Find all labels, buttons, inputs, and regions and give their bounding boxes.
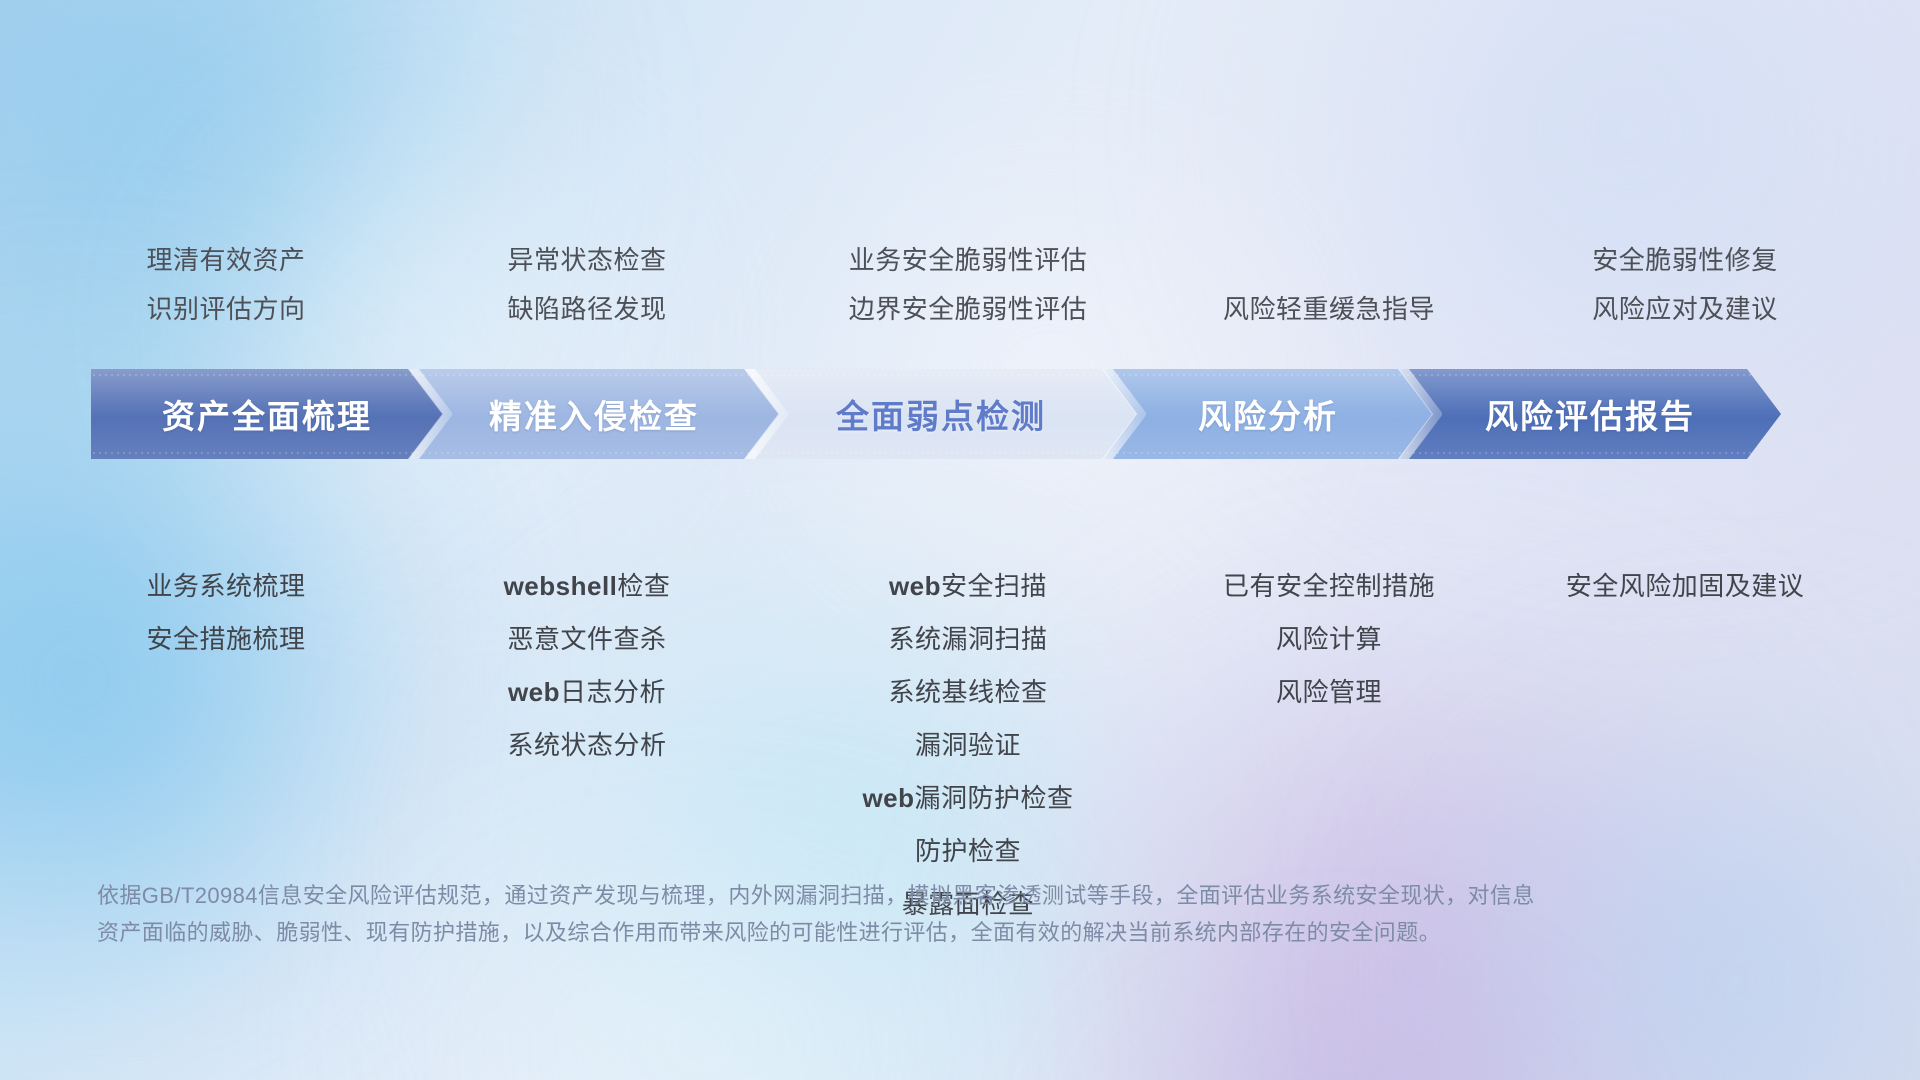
top-outcomes-row: 理清有效资产识别评估方向异常状态检查缺陷路径发现业务安全脆弱性评估边界安全脆弱性… xyxy=(0,236,1920,334)
chevron-dot-texture xyxy=(1399,373,1781,377)
process-diagram: 理清有效资产识别评估方向异常状态检查缺陷路径发现业务安全脆弱性评估边界安全脆弱性… xyxy=(0,0,1920,1080)
chevron-dot-texture xyxy=(91,373,443,377)
activity-item: web漏洞防护检查 xyxy=(862,772,1073,825)
stage-title-asset-inventory: 资产全面梳理 xyxy=(162,390,372,438)
activity-item: 已有安全控制措施 xyxy=(1223,560,1435,613)
footer-description: 依据GB/T20984信息安全风险评估规范，通过资产发现与梳理，内外网漏洞扫描，… xyxy=(97,877,1797,951)
top-outcomes-intrusion-check: 异常状态检查缺陷路径发现 xyxy=(402,236,772,334)
top-outcomes-risk-analysis: 风险轻重缓急指导 xyxy=(1164,236,1494,334)
bottom-activities-risk-analysis: 已有安全控制措施风险计算风险管理 xyxy=(1164,560,1494,931)
stage-chevron-banner: 资产全面梳理精准入侵检查全面弱点检测风险分析风险评估报告 xyxy=(91,369,1847,459)
stage-chevron-weakness-detection[interactable]: 全面弱点检测 xyxy=(745,369,1137,459)
stage-chevron-intrusion-check[interactable]: 精准入侵检查 xyxy=(409,369,779,459)
footer-line-1: 依据GB/T20984信息安全风险评估规范，通过资产发现与梳理，内外网漏洞扫描，… xyxy=(97,877,1797,914)
outcome-item: 安全脆弱性修复 xyxy=(1592,236,1778,285)
activity-item-prefix: webshell xyxy=(504,571,618,601)
activity-item: 恶意文件查杀 xyxy=(507,613,666,666)
bottom-activities-asset-inventory: 业务系统梳理安全措施梳理 xyxy=(50,560,402,931)
bottom-activities-risk-report: 安全风险加固及建议 xyxy=(1494,560,1876,931)
stage-title-weakness-detection: 全面弱点检测 xyxy=(836,390,1046,438)
activity-item: 安全措施梳理 xyxy=(146,613,305,666)
outcome-item: 业务安全脆弱性评估 xyxy=(849,236,1088,285)
stage-chevron-risk-analysis[interactable]: 风险分析 xyxy=(1103,369,1433,459)
chevron-dot-texture xyxy=(409,373,779,377)
outcome-item: 风险应对及建议 xyxy=(1592,285,1778,334)
activity-item: 系统漏洞扫描 xyxy=(888,613,1047,666)
outcome-item: 理清有效资产 xyxy=(146,236,305,285)
stage-title-risk-report: 风险评估报告 xyxy=(1485,390,1695,438)
activity-item: 安全风险加固及建议 xyxy=(1566,560,1805,613)
chevron-dot-texture xyxy=(1399,451,1781,455)
stage-title-risk-analysis: 风险分析 xyxy=(1198,390,1338,438)
top-outcomes-asset-inventory: 理清有效资产识别评估方向 xyxy=(50,236,402,334)
outcome-item: 风险轻重缓急指导 xyxy=(1223,285,1435,334)
activity-item: 漏洞验证 xyxy=(915,719,1021,772)
stage-chevron-asset-inventory[interactable]: 资产全面梳理 xyxy=(91,369,443,459)
activity-item: 系统状态分析 xyxy=(507,719,666,772)
activity-item-prefix: web xyxy=(862,783,914,813)
top-outcomes-weakness-detection: 业务安全脆弱性评估边界安全脆弱性评估 xyxy=(772,236,1164,334)
stage-title-intrusion-check: 精准入侵检查 xyxy=(489,390,699,438)
bottom-activities-weakness-detection: web安全扫描系统漏洞扫描系统基线检查漏洞验证web漏洞防护检查防护检查暴露面检… xyxy=(772,560,1164,931)
activity-item: 风险管理 xyxy=(1276,666,1382,719)
chevron-dot-texture xyxy=(745,373,1137,377)
activity-item: web安全扫描 xyxy=(889,560,1047,613)
footer-line-2: 资产面临的威胁、脆弱性、现有防护措施，以及综合作用而带来风险的可能性进行评估，全… xyxy=(97,914,1797,951)
activity-item: 风险计算 xyxy=(1276,613,1382,666)
bottom-activities-intrusion-check: webshell检查恶意文件查杀web日志分析系统状态分析 xyxy=(402,560,772,931)
chevron-dot-texture xyxy=(1103,451,1433,455)
outcome-item: 边界安全脆弱性评估 xyxy=(849,285,1088,334)
chevron-dot-texture xyxy=(745,451,1137,455)
activity-item: 系统基线检查 xyxy=(888,666,1047,719)
outcome-item: 识别评估方向 xyxy=(146,285,305,334)
chevron-dot-texture xyxy=(1103,373,1433,377)
activity-item-prefix: web xyxy=(508,677,560,707)
activity-item: 防护检查 xyxy=(915,825,1021,878)
activity-item-prefix: web xyxy=(889,571,941,601)
activity-item: web日志分析 xyxy=(508,666,666,719)
top-outcomes-risk-report: 安全脆弱性修复风险应对及建议 xyxy=(1494,236,1876,334)
bottom-activities-row: 业务系统梳理安全措施梳理webshell检查恶意文件查杀web日志分析系统状态分… xyxy=(0,560,1920,931)
activity-item: webshell检查 xyxy=(504,560,671,613)
outcome-item: 缺陷路径发现 xyxy=(507,285,666,334)
stage-chevron-risk-report[interactable]: 风险评估报告 xyxy=(1399,369,1781,459)
activity-item: 业务系统梳理 xyxy=(146,560,305,613)
chevron-dot-texture xyxy=(91,451,443,455)
chevron-dot-texture xyxy=(409,451,779,455)
outcome-item: 异常状态检查 xyxy=(507,236,666,285)
